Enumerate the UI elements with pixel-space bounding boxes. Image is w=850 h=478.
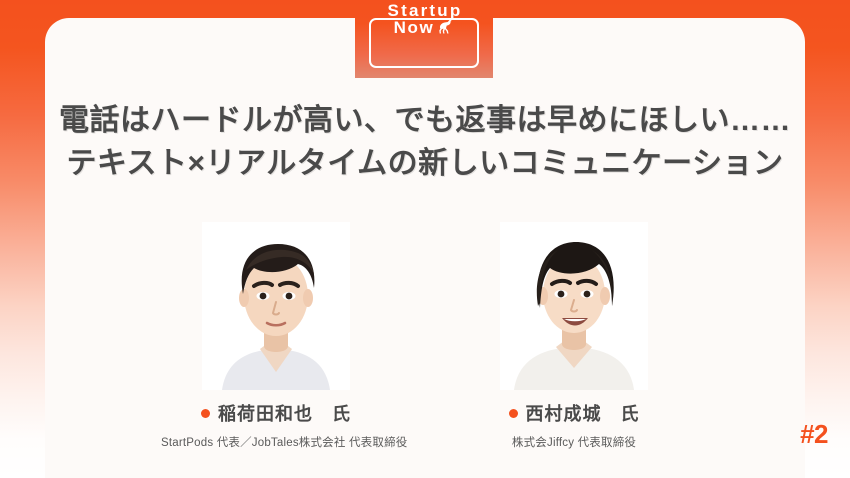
- logo-line-startup: Startup: [355, 2, 493, 19]
- logo-now-word: Now: [394, 18, 435, 37]
- speaker-card-1: 稲荷田和也 氏 StartPods 代表／JobTales株式会社 代表取締役: [161, 222, 391, 450]
- speaker-name-text-1: 稲荷田和也 氏: [218, 404, 351, 424]
- speaker-name-1: 稲荷田和也 氏: [161, 400, 391, 426]
- presentation-slide: Startup Now 電話はハードルが高い、でも返事は早めにほしい…… テキス…: [0, 0, 850, 478]
- title-line-2: テキスト×リアルタイムの新しいコミュニケーション: [45, 143, 805, 186]
- speaker-photo-1: [202, 222, 350, 390]
- speaker-photo-2: [500, 222, 648, 390]
- speaker-title-1: StartPods 代表／JobTales株式会社 代表取締役: [161, 434, 391, 450]
- slide-title: 電話はハードルが高い、でも返事は早めにほしい…… テキスト×リアルタイムの新しい…: [45, 100, 805, 185]
- bullet-icon: [201, 409, 210, 418]
- startup-now-logo: Startup Now: [355, 0, 493, 78]
- title-line-1: 電話はハードルが高い、でも返事は早めにほしい……: [45, 100, 805, 143]
- episode-number-badge: #2: [800, 419, 828, 450]
- logo-text: Startup Now: [355, 2, 493, 38]
- bullet-icon: [509, 409, 518, 418]
- unicorn-icon: [437, 18, 454, 37]
- speakers-row: 稲荷田和也 氏 StartPods 代表／JobTales株式会社 代表取締役: [140, 222, 710, 450]
- logo-line-now: Now: [355, 18, 493, 37]
- speaker-card-2: 西村成城 氏 株式会Jiffcy 代表取締役: [459, 222, 689, 450]
- speaker-name-text-2: 西村成城 氏: [526, 404, 640, 424]
- speaker-title-2: 株式会Jiffcy 代表取締役: [459, 434, 689, 450]
- speaker-name-2: 西村成城 氏: [459, 400, 689, 426]
